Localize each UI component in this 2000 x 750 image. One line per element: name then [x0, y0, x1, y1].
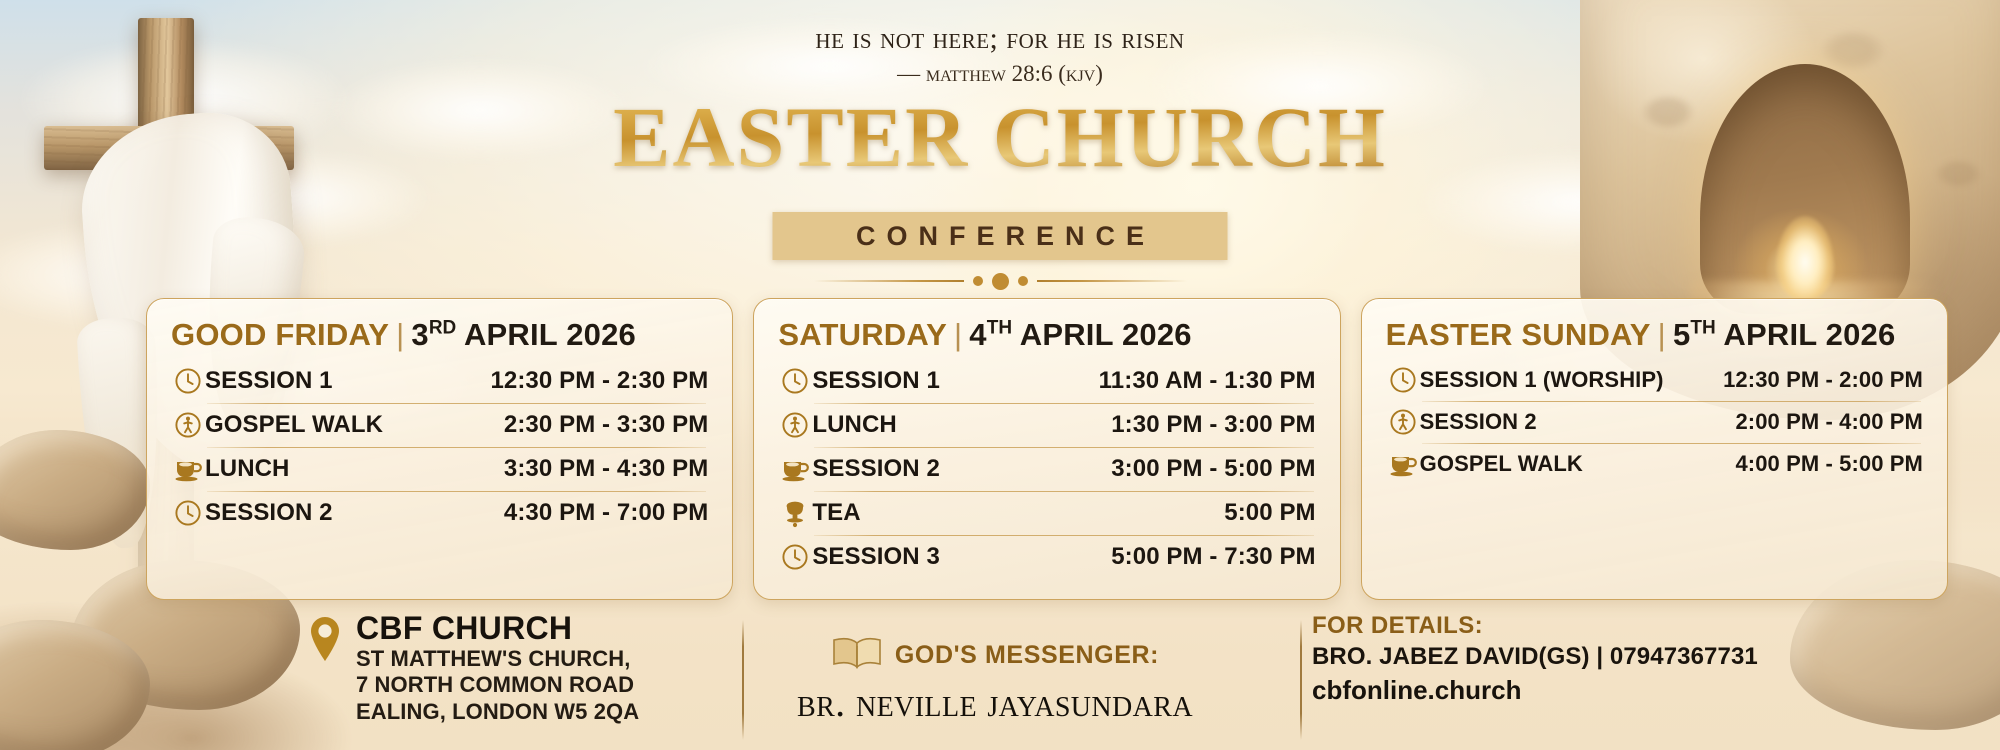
walking-person-icon — [1386, 408, 1420, 436]
schedule-row-label: SESSION 2 — [812, 455, 940, 483]
schedule-row: GOSPEL WALK4:00 PM - 5:00 PM — [1386, 443, 1923, 485]
schedule-row-time: 3:00 PM - 5:00 PM — [1111, 455, 1315, 483]
details-website[interactable]: cbfonline.church — [1312, 675, 1521, 706]
scripture-text: He is not here; for He is risen — [0, 22, 2000, 56]
schedule-cards: GOOD FRIDAY|3RD APRIL 2026SESSION 112:30… — [146, 298, 1948, 600]
walking-person-icon — [171, 411, 205, 439]
schedule-row: TEA5:00 PM — [778, 491, 1315, 535]
schedule-row-time: 11:30 AM - 1:30 PM — [1099, 367, 1316, 395]
schedule-row: LUNCH1:30 PM - 3:00 PM — [778, 403, 1315, 447]
address-line-2: 7 NORTH COMMON ROAD — [356, 672, 639, 699]
schedule-card: GOOD FRIDAY|3RD APRIL 2026SESSION 112:30… — [146, 298, 733, 600]
card-title: EASTER SUNDAY|5TH APRIL 2026 — [1386, 317, 1923, 353]
cup-icon — [1386, 451, 1420, 477]
schedule-row: SESSION 22:00 PM - 4:00 PM — [1386, 401, 1923, 443]
schedule-row-time: 4:30 PM - 7:00 PM — [504, 499, 708, 527]
clock-icon — [778, 367, 812, 395]
schedule-row: SESSION 1 (WORSHIP)12:30 PM - 2:00 PM — [1386, 359, 1923, 401]
card-date-number: 5 — [1673, 317, 1690, 352]
schedule-row: LUNCH3:30 PM - 4:30 PM — [171, 447, 708, 491]
schedule-row: SESSION 35:00 PM - 7:30 PM — [778, 535, 1315, 579]
messenger-label: GOD'S MESSENGER: — [895, 641, 1159, 670]
divider-line-left — [814, 280, 964, 282]
card-title-separator: | — [954, 317, 962, 352]
footer-messenger-block: GOD'S MESSENGER: Br. Neville Jayasundara — [730, 612, 1260, 750]
schedule-row-time: 1:30 PM - 3:00 PM — [1111, 411, 1315, 439]
schedule-row-time: 12:30 PM - 2:30 PM — [490, 367, 708, 395]
address-line-3: EALING, LONDON W5 2QA — [356, 699, 639, 726]
details-contact: BRO. JABEZ DAVID(GS) | 07947367731 — [1312, 643, 1758, 671]
conference-label: CONFERENCE — [845, 221, 1155, 252]
divider-line-right — [1037, 280, 1187, 282]
details-heading: FOR DETAILS: — [1312, 612, 1483, 640]
schedule-row-label: SESSION 2 — [205, 499, 333, 527]
divider-dot — [973, 276, 983, 286]
address-line-1: ST MATTHEW'S CHURCH, — [356, 646, 639, 673]
card-day-name: GOOD FRIDAY — [171, 317, 389, 352]
scripture-reference: — Matthew 28:6 (KJV) — [0, 61, 2000, 87]
divider-dot — [992, 273, 1009, 290]
card-date: 3RD APRIL 2026 — [411, 317, 636, 352]
schedule-row-label: SESSION 1 (WORSHIP) — [1420, 367, 1664, 393]
card-date-rest: APRIL 2026 — [1723, 317, 1895, 352]
footer-divider — [1300, 620, 1302, 740]
card-date-ordinal: RD — [429, 318, 456, 339]
schedule-row-time: 2:30 PM - 3:30 PM — [504, 411, 708, 439]
card-date-rest: APRIL 2026 — [1020, 317, 1192, 352]
schedule-row-time: 5:00 PM — [1224, 499, 1315, 527]
footer-details-block: FOR DETAILS: BRO. JABEZ DAVID(GS) | 0794… — [1260, 612, 1960, 750]
teacup-icon — [778, 498, 812, 528]
footer-divider — [742, 620, 744, 740]
schedule-row-time: 4:00 PM - 5:00 PM — [1735, 451, 1923, 477]
schedule-row-label: SESSION 1 — [812, 367, 940, 395]
schedule-card: SATURDAY|4TH APRIL 2026SESSION 111:30 AM… — [753, 298, 1340, 600]
schedule-row-label: SESSION 2 — [1420, 409, 1537, 435]
schedule-row-label: TEA — [812, 499, 860, 527]
schedule-row-label: GOSPEL WALK — [205, 411, 383, 439]
map-pin-icon — [308, 612, 350, 667]
walking-person-icon — [778, 411, 812, 439]
schedule-row-time: 5:00 PM - 7:30 PM — [1111, 543, 1315, 571]
card-title-separator: | — [396, 317, 404, 352]
card-date-rest: APRIL 2026 — [464, 317, 636, 352]
messenger-name: Br. Neville Jayasundara — [797, 679, 1193, 726]
schedule-row: SESSION 112:30 PM - 2:30 PM — [171, 359, 708, 403]
church-name: CBF CHURCH — [356, 612, 639, 646]
schedule-row-time: 2:00 PM - 4:00 PM — [1735, 409, 1923, 435]
open-book-icon — [831, 636, 883, 675]
schedule-rows: SESSION 112:30 PM - 2:30 PMGOSPEL WALK2:… — [171, 359, 708, 535]
card-date-number: 4 — [969, 317, 986, 352]
schedule-row: SESSION 23:00 PM - 5:00 PM — [778, 447, 1315, 491]
schedule-row-label: GOSPEL WALK — [1420, 451, 1583, 477]
schedule-row-label: LUNCH — [812, 411, 897, 439]
cup-icon — [778, 456, 812, 482]
card-date-ordinal: TH — [1690, 318, 1715, 339]
card-title: GOOD FRIDAY|3RD APRIL 2026 — [171, 317, 708, 353]
schedule-row: SESSION 24:30 PM - 7:00 PM — [171, 491, 708, 535]
card-day-name: SATURDAY — [778, 317, 947, 352]
card-title-separator: | — [1658, 317, 1666, 352]
ornamental-divider — [790, 272, 1210, 290]
scripture-block: He is not here; for He is risen — Matthe… — [0, 22, 2000, 87]
schedule-row-label: SESSION 1 — [205, 367, 333, 395]
schedule-card: EASTER SUNDAY|5TH APRIL 2026SESSION 1 (W… — [1361, 298, 1948, 600]
clock-icon — [778, 543, 812, 571]
clock-icon — [1386, 366, 1420, 394]
footer: CBF CHURCH ST MATTHEW'S CHURCH, 7 NORTH … — [300, 612, 1960, 750]
schedule-row-label: SESSION 3 — [812, 543, 940, 571]
schedule-rows: SESSION 111:30 AM - 1:30 PMLUNCH1:30 PM … — [778, 359, 1315, 579]
page-title: EASTER CHURCH — [0, 92, 2000, 182]
conference-band: CONFERENCE — [773, 212, 1228, 260]
schedule-row-time: 12:30 PM - 2:00 PM — [1723, 367, 1923, 393]
schedule-rows: SESSION 1 (WORSHIP)12:30 PM - 2:00 PMSES… — [1386, 359, 1923, 485]
clock-icon — [171, 367, 205, 395]
card-date: 4TH APRIL 2026 — [969, 317, 1191, 352]
schedule-row: SESSION 111:30 AM - 1:30 PM — [778, 359, 1315, 403]
footer-location-block: CBF CHURCH ST MATTHEW'S CHURCH, 7 NORTH … — [300, 612, 730, 750]
card-date-ordinal: TH — [987, 318, 1012, 339]
card-date: 5TH APRIL 2026 — [1673, 317, 1895, 352]
card-date-number: 3 — [411, 317, 428, 352]
divider-dot — [1018, 276, 1028, 286]
schedule-row-label: LUNCH — [205, 455, 290, 483]
card-title: SATURDAY|4TH APRIL 2026 — [778, 317, 1315, 353]
schedule-row: GOSPEL WALK2:30 PM - 3:30 PM — [171, 403, 708, 447]
card-day-name: EASTER SUNDAY — [1386, 317, 1651, 352]
cup-icon — [171, 456, 205, 482]
schedule-row-time: 3:30 PM - 4:30 PM — [504, 455, 708, 483]
clock-icon — [171, 499, 205, 527]
